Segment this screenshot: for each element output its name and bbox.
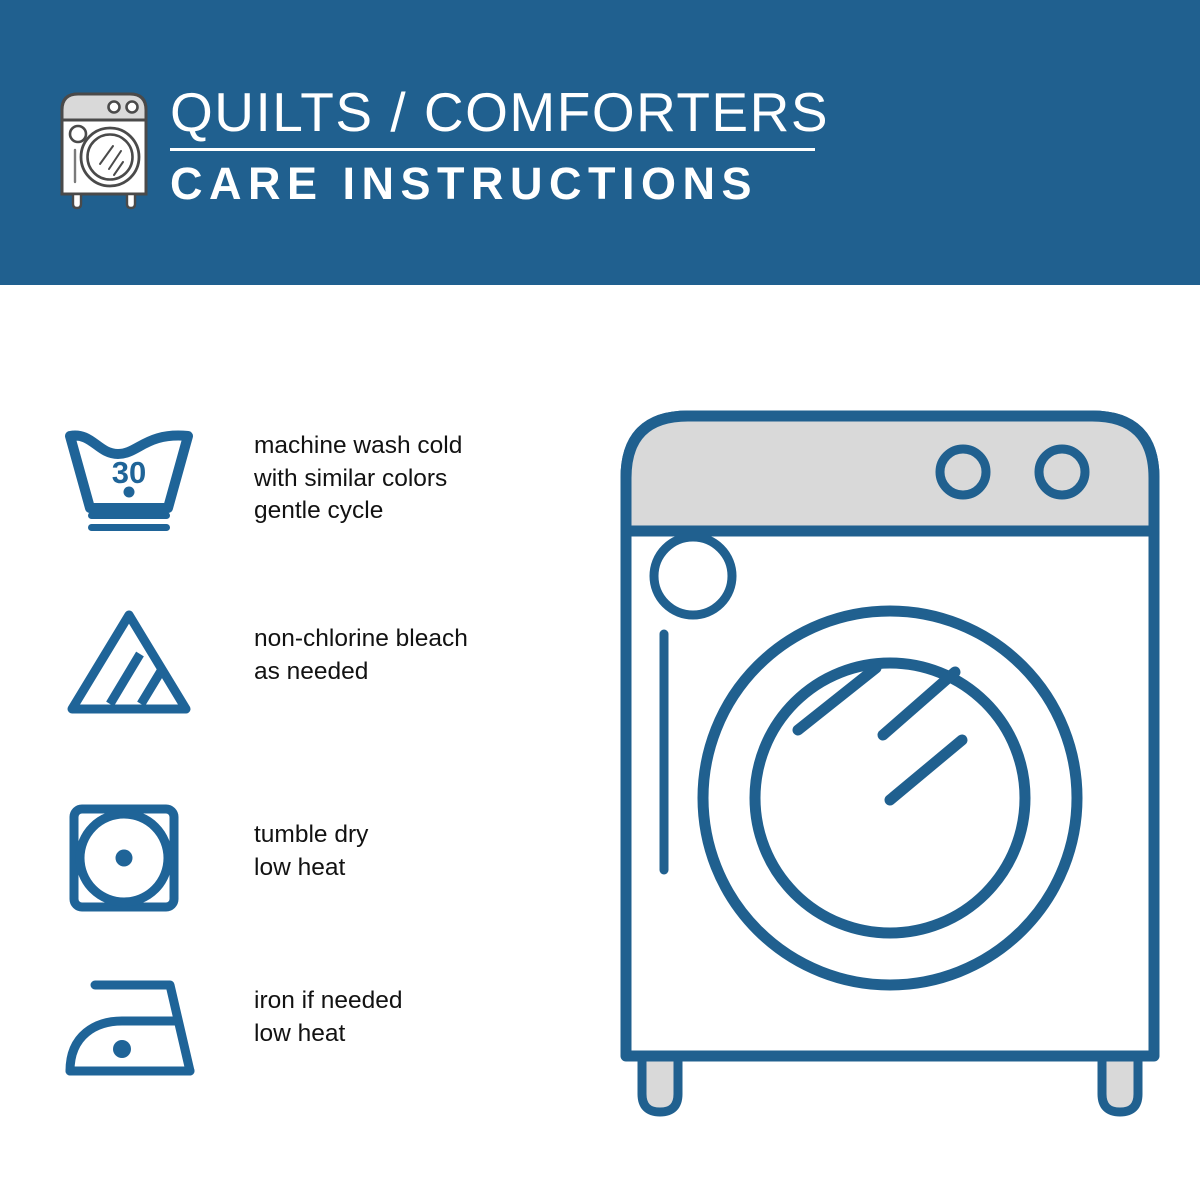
- page-subtitle: CARE INSTRUCTIONS: [170, 158, 820, 210]
- care-row-label: iron if needed low heat: [254, 985, 402, 1050]
- care-instructions-infographic: QUILTS / COMFORTERS CARE INSTRUCTIONS 30: [0, 0, 1200, 1200]
- header-title-block: QUILTS / COMFORTERS CARE INSTRUCTIONS: [170, 82, 820, 210]
- care-row-label: non-chlorine bleach as needed: [254, 623, 468, 688]
- header-banner: QUILTS / COMFORTERS CARE INSTRUCTIONS: [0, 0, 1200, 285]
- page-title: QUILTS / COMFORTERS: [170, 82, 820, 142]
- non-chlorine-bleach-symbol: [64, 607, 194, 722]
- care-instruction-list: 30 machine wash cold with similar colors…: [0, 285, 560, 1200]
- machine-wash-symbol: 30: [62, 420, 196, 537]
- washing-machine-icon: [52, 84, 156, 210]
- tumble-dry-symbol: [66, 803, 182, 918]
- washing-machine-illustration: [600, 400, 1180, 1120]
- knob: [940, 449, 986, 495]
- knob: [1039, 449, 1085, 495]
- care-row-label: machine wash cold with similar colors ge…: [254, 430, 462, 528]
- wash-temperature-label: 30: [112, 455, 146, 490]
- iron-symbol: [62, 975, 198, 1084]
- care-row-label: tumble dry low heat: [254, 819, 368, 884]
- title-divider: [170, 148, 815, 151]
- dispenser-circle: [654, 537, 732, 615]
